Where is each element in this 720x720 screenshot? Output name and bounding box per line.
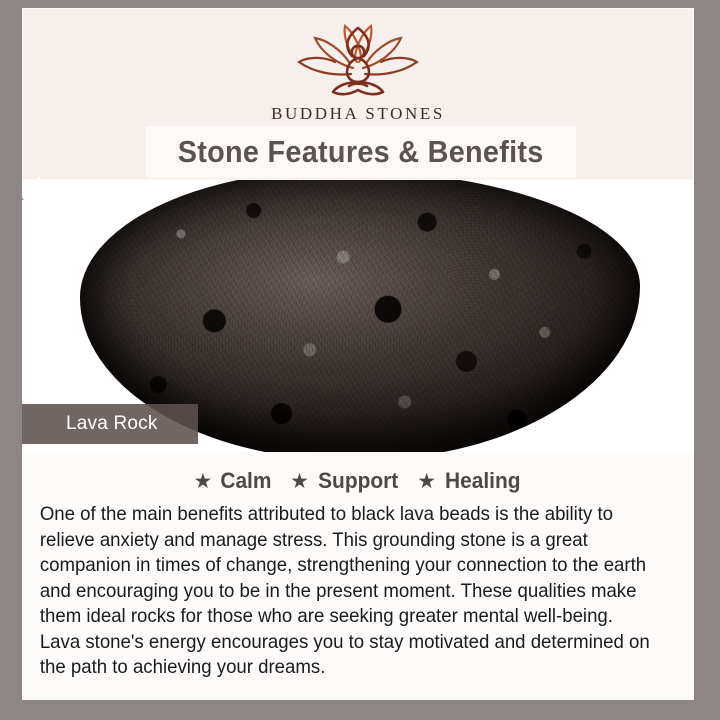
corner-fold-left <box>0 176 24 200</box>
photo-caption-bar: Lava Rock <box>22 404 198 444</box>
corner-fold-left-inner <box>22 176 40 194</box>
feature-label-0: Calm <box>221 468 272 494</box>
benefits-panel: ★ Calm ★ Support ★ Healing One of the ma… <box>22 452 694 700</box>
brand-name: BUDDHA STONES <box>271 104 445 124</box>
brand-logo: BUDDHA STONES <box>22 24 694 124</box>
feature-label-1: Support <box>318 468 398 494</box>
feature-item-1: ★ Support <box>290 468 400 494</box>
page-title: Stone Features & Benefits <box>178 134 544 170</box>
star-icon: ★ <box>417 471 436 492</box>
feature-item-0: ★ Calm <box>193 468 273 494</box>
star-icon: ★ <box>290 471 309 492</box>
features-row: ★ Calm ★ Support ★ Healing <box>34 468 682 494</box>
feature-label-2: Healing <box>445 468 520 494</box>
infographic-frame: BUDDHA STONES Stone Features & Benefits … <box>0 0 720 720</box>
feature-item-2: ★ Healing <box>417 468 522 494</box>
photo-caption: Lava Rock <box>66 413 158 435</box>
star-icon: ★ <box>193 471 212 492</box>
page-title-ribbon: Stone Features & Benefits <box>146 126 576 178</box>
benefits-paragraph: One of the main benefits attributed to b… <box>34 502 663 681</box>
lotus-meditation-icon <box>273 24 443 98</box>
